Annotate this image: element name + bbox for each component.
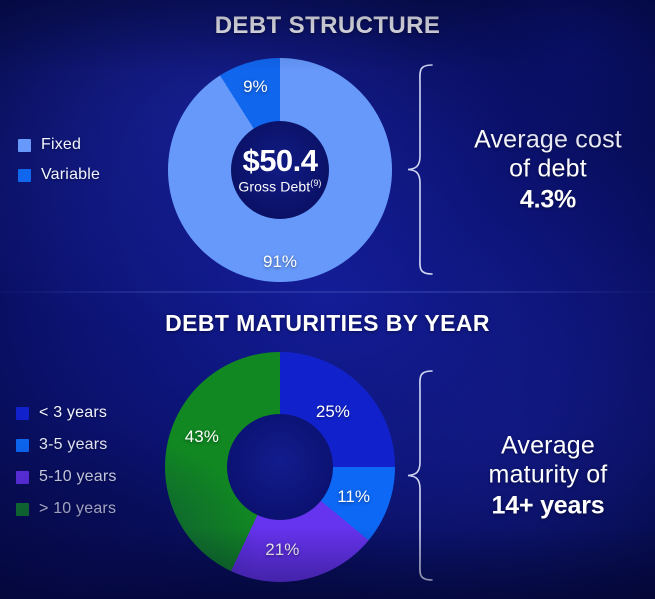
slice-label-lt-3-years: 25% [316,402,350,422]
legend-debt-structure: Fixed Variable [18,136,100,184]
gross-debt-caption: Gross Debt(9) [238,178,321,195]
slice-label-variable: 9% [243,77,268,97]
legend-debt-maturities: < 3 years 3-5 years 5-10 years > 10 year… [16,404,117,518]
panel-debt-structure: DEBT STRUCTURE Fixed Variable $50.4 Gros… [0,0,655,292]
legend-swatch-fixed [18,139,31,152]
legend-label-5-10-years: 5-10 years [39,468,117,486]
callout-value-average-maturity: 14+ years [448,490,648,521]
brace-icon [404,368,446,583]
callout-line-1: Average cost [448,125,648,155]
legend-label-lt-3-years: < 3 years [39,404,107,422]
legend-swatch-5-10-years [16,471,29,484]
legend-label-variable: Variable [41,166,100,184]
callout-average-cost-of-debt: Average cost of debt 4.3% [404,62,652,277]
donut-chart-debt-maturities: 25% 11% 21% 43% [165,352,395,582]
callout-line-2: of debt [448,154,648,184]
slice-label-5-10-years: 21% [265,540,299,560]
legend-item-variable[interactable]: Variable [18,166,100,184]
donut-center-debt-maturities [227,414,333,520]
page-title-debt-maturities: DEBT MATURITIES BY YEAR [0,310,655,337]
infographic-slide: DEBT STRUCTURE Fixed Variable $50.4 Gros… [0,0,655,599]
donut-center-debt-structure: $50.4 Gross Debt(9) [231,121,330,220]
gross-debt-caption-text: Gross Debt [238,179,310,195]
legend-item-gt-10-years[interactable]: > 10 years [16,500,117,518]
slice-label-3-5-years: 11% [337,487,370,507]
legend-label-gt-10-years: > 10 years [39,500,116,518]
slice-label-fixed: 91% [263,252,297,272]
legend-label-3-5-years: 3-5 years [39,436,108,454]
gross-debt-footnote: (9) [310,178,321,188]
legend-swatch-gt-10-years [16,503,29,516]
legend-swatch-lt-3-years [16,407,29,420]
page-title-debt-structure: DEBT STRUCTURE [0,12,655,40]
brace-icon [404,62,446,277]
callout-text-average-cost: Average cost of debt 4.3% [448,125,648,215]
donut-chart-debt-structure: $50.4 Gross Debt(9) 9% 91% [168,58,392,282]
legend-label-fixed: Fixed [41,136,81,154]
callout-line-1: Average [448,431,648,461]
callout-line-2: maturity of [448,460,648,490]
legend-item-3-5-years[interactable]: 3-5 years [16,436,117,454]
callout-value-average-cost: 4.3% [448,184,648,215]
legend-swatch-variable [18,169,31,182]
legend-item-lt-3-years[interactable]: < 3 years [16,404,117,422]
slice-label-gt-10-years: 43% [185,427,219,447]
gross-debt-value: $50.4 [242,145,317,178]
callout-average-maturity: Average maturity of 14+ years [404,368,652,583]
callout-text-average-maturity: Average maturity of 14+ years [448,431,648,521]
legend-item-5-10-years[interactable]: 5-10 years [16,468,117,486]
legend-swatch-3-5-years [16,439,29,452]
legend-item-fixed[interactable]: Fixed [18,136,100,154]
